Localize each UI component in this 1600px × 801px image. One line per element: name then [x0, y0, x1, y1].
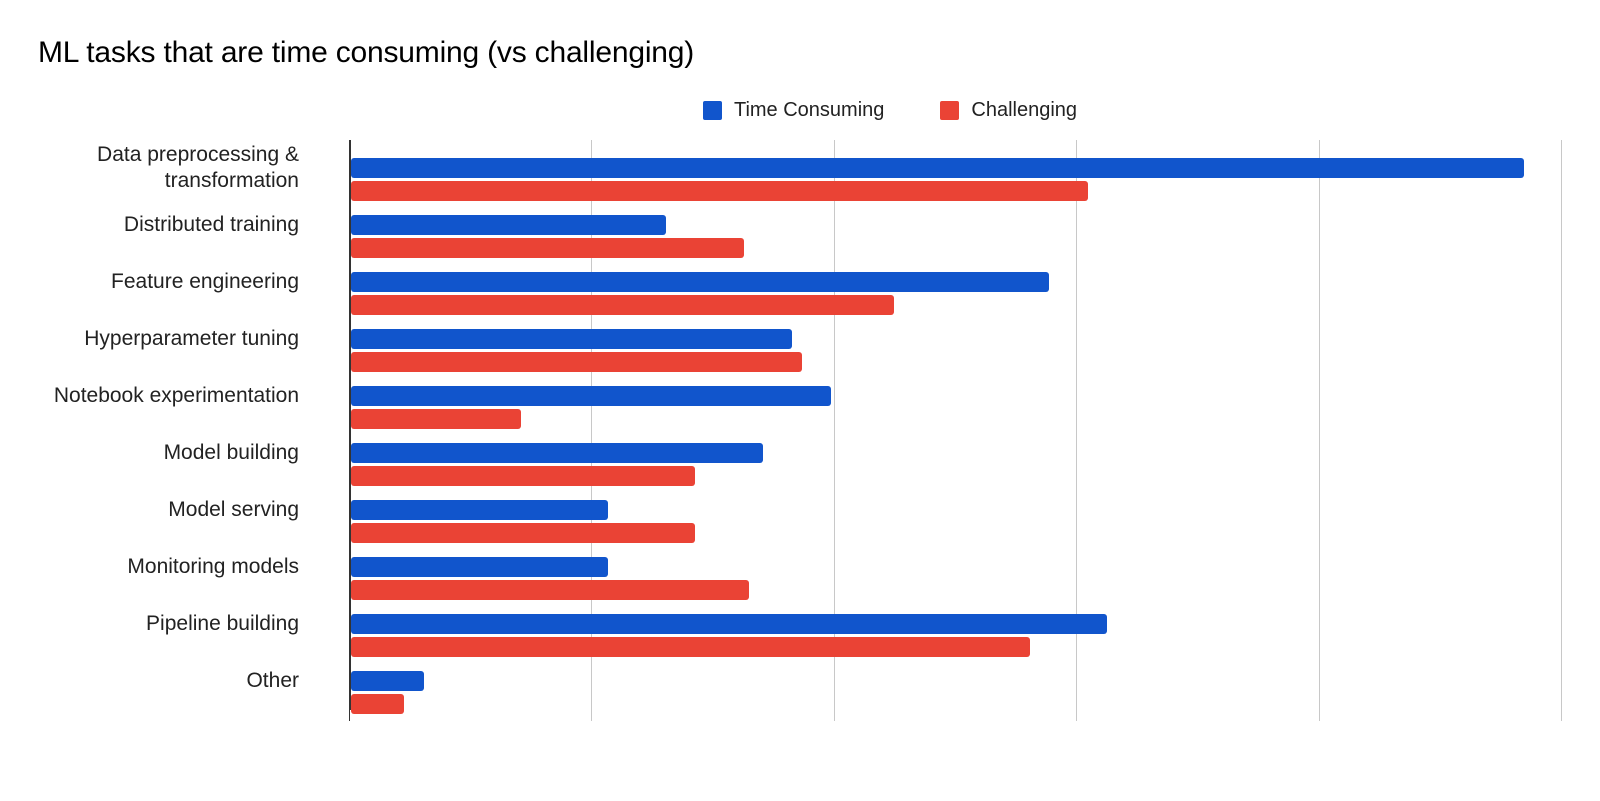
bar-challenging[interactable] [351, 637, 1030, 657]
bar-time-consuming[interactable] [351, 272, 1049, 292]
category-row: Model serving [349, 496, 1561, 543]
legend-entry[interactable]: Challenging [940, 99, 1077, 122]
category-label: Feature engineering [0, 269, 299, 295]
x-tick-mark [1561, 710, 1562, 721]
category-row: Distributed training [349, 211, 1561, 258]
category-label: Model serving [0, 497, 299, 523]
legend-swatch-icon [940, 101, 959, 120]
bar-time-consuming[interactable] [351, 329, 792, 349]
category-row: Monitoring models [349, 553, 1561, 600]
category-label: Model building [0, 440, 299, 466]
chart-title: ML tasks that are time consuming (vs cha… [38, 36, 694, 70]
category-label: Distributed training [0, 212, 299, 238]
category-label: Monitoring models [0, 554, 299, 580]
legend-label: Challenging [971, 99, 1077, 122]
category-label-line: Model serving [0, 497, 299, 523]
category-row: Hyperparameter tuning [349, 325, 1561, 372]
category-label: Hyperparameter tuning [0, 326, 299, 352]
bar-time-consuming[interactable] [351, 500, 608, 520]
category-label-line: Other [0, 668, 299, 694]
category-label-line: Notebook experimentation [0, 383, 299, 409]
category-label: Pipeline building [0, 611, 299, 637]
category-label: Other [0, 668, 299, 694]
bar-challenging[interactable] [351, 523, 695, 543]
legend-label: Time Consuming [734, 99, 884, 122]
bar-time-consuming[interactable] [351, 443, 763, 463]
bar-challenging[interactable] [351, 694, 404, 714]
category-row: Data preprocessing &transformation [349, 154, 1561, 201]
category-label-line: Pipeline building [0, 611, 299, 637]
category-label-line: transformation [0, 168, 299, 194]
chart-legend: Time ConsumingChallenging [0, 99, 1600, 122]
bar-time-consuming[interactable] [351, 158, 1524, 178]
category-row: Pipeline building [349, 610, 1561, 657]
chart-container: ML tasks that are time consuming (vs cha… [0, 0, 1600, 801]
bar-time-consuming[interactable] [351, 557, 608, 577]
bar-challenging[interactable] [351, 409, 521, 429]
bar-time-consuming[interactable] [351, 386, 831, 406]
bar-time-consuming[interactable] [351, 614, 1107, 634]
bar-time-consuming[interactable] [351, 671, 424, 691]
bar-challenging[interactable] [351, 295, 894, 315]
bar-time-consuming[interactable] [351, 215, 666, 235]
bar-challenging[interactable] [351, 352, 802, 372]
category-label-line: Data preprocessing & [0, 142, 299, 168]
category-label-line: Monitoring models [0, 554, 299, 580]
category-label: Data preprocessing &transformation [0, 142, 299, 194]
legend-entry[interactable]: Time Consuming [703, 99, 884, 122]
category-label-line: Model building [0, 440, 299, 466]
bar-challenging[interactable] [351, 181, 1088, 201]
category-label-line: Hyperparameter tuning [0, 326, 299, 352]
category-label-line: Feature engineering [0, 269, 299, 295]
legend-swatch-icon [703, 101, 722, 120]
category-row: Model building [349, 439, 1561, 486]
bar-challenging[interactable] [351, 580, 749, 600]
plot-area: 0255075100125Data preprocessing &transfo… [349, 140, 1561, 710]
category-label-line: Distributed training [0, 212, 299, 238]
bar-challenging[interactable] [351, 466, 695, 486]
x-gridline [1561, 140, 1562, 710]
category-label: Notebook experimentation [0, 383, 299, 409]
category-row: Other [349, 667, 1561, 714]
bar-challenging[interactable] [351, 238, 744, 258]
category-row: Feature engineering [349, 268, 1561, 315]
category-row: Notebook experimentation [349, 382, 1561, 429]
